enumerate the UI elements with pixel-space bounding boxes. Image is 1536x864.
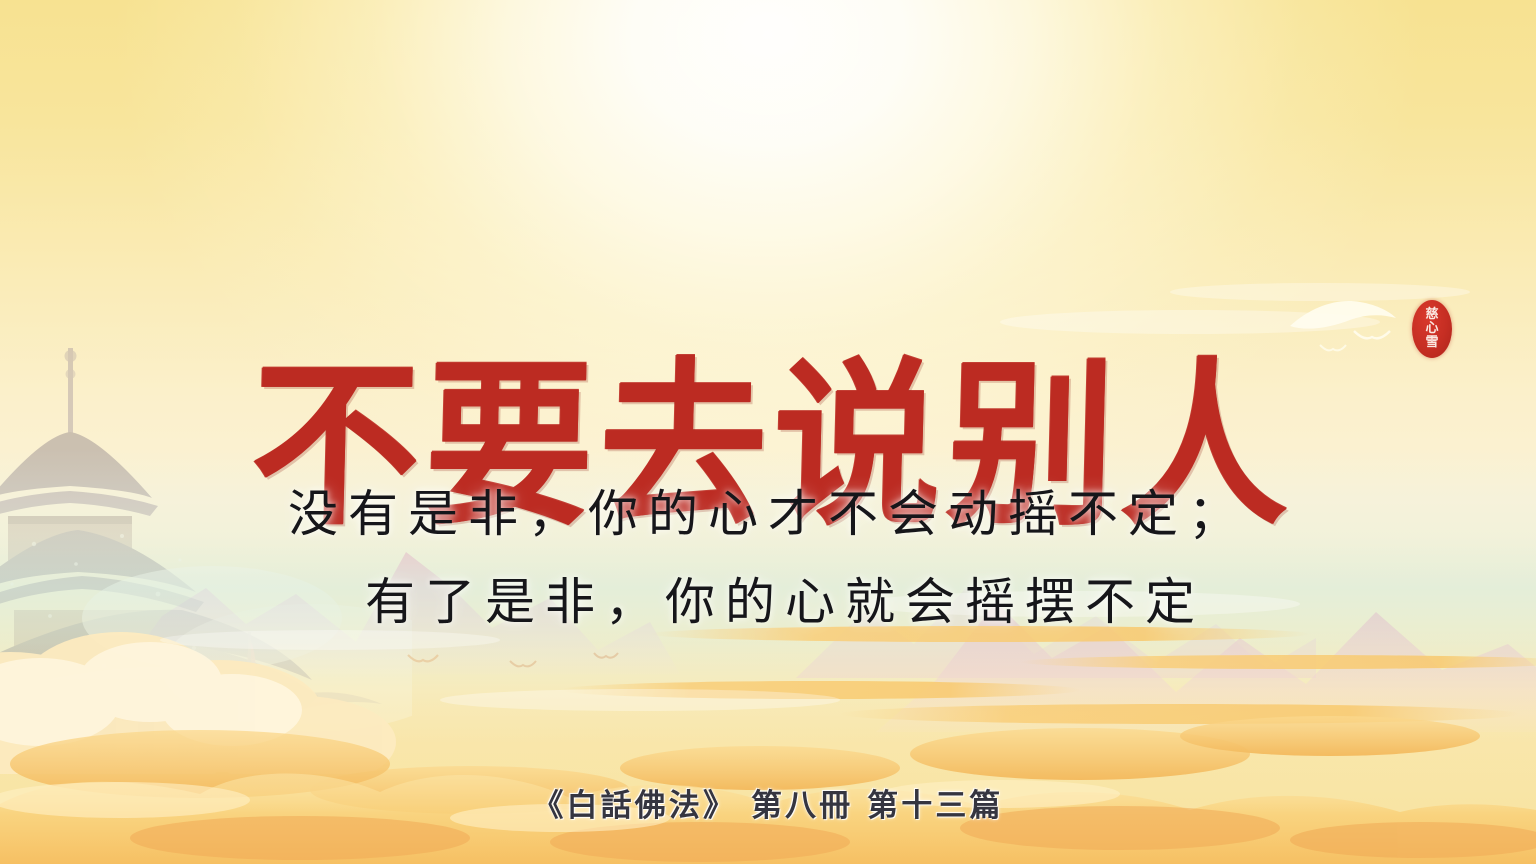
poster-content: 不要去说别人 慈 心 雪 没有是非，你的心才不会动摇不定； 有了是非，你的心就会…: [0, 0, 1536, 864]
artist-seal-stamp: 慈 心 雪: [1412, 300, 1452, 358]
seal-glyph-row-3: 雪: [1412, 336, 1452, 350]
footer-container: 《白話佛法》 第八冊 第十三篇: [0, 780, 1536, 825]
seal-glyph-row-1: 慈: [1412, 308, 1452, 322]
subtitle-line-2: 有了是非，你的心就会摇摆不定: [0, 558, 1536, 646]
subtitle-line-1: 没有是非，你的心才不会动摇不定；: [0, 470, 1536, 558]
subtitle-couplet: 没有是非，你的心才不会动摇不定； 有了是非，你的心就会摇摆不定: [0, 470, 1536, 646]
poster-canvas: 不要去说别人 慈 心 雪 没有是非，你的心才不会动摇不定； 有了是非，你的心就会…: [0, 0, 1536, 864]
seal-glyph-row-2: 心: [1412, 322, 1452, 336]
source-citation: 《白話佛法》 第八冊 第十三篇: [0, 780, 1536, 825]
